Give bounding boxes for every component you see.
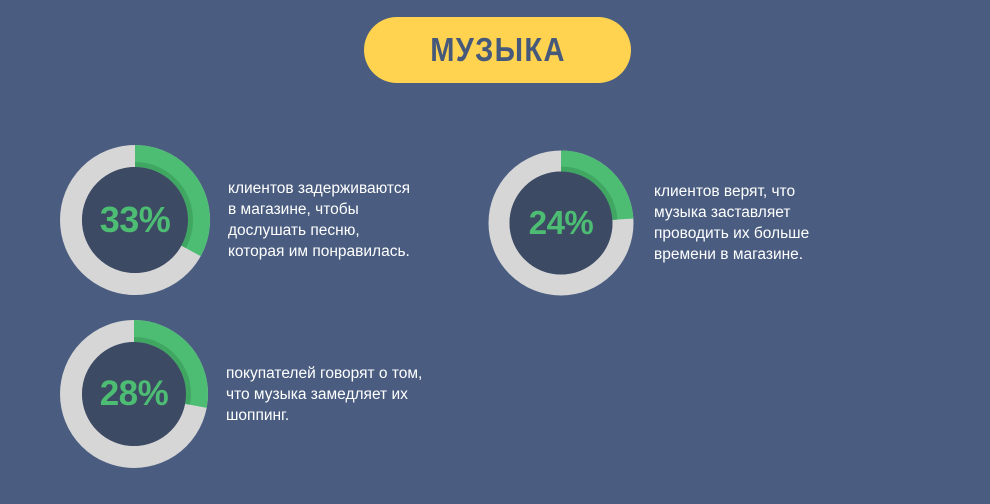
stat-block: 28% покупателей говорят о том, что музык… <box>60 320 422 468</box>
donut-svg <box>60 145 210 295</box>
page-title: МУЗЫКА <box>430 31 566 69</box>
stat-block: 24% клиентов верят, что музыка заставляе… <box>488 150 809 296</box>
page-title-pill: МУЗЫКА <box>364 17 631 83</box>
stat-caption: покупателей говорят о том, что музыка за… <box>226 363 422 426</box>
donut-center-disc <box>82 167 188 273</box>
donut-center-disc <box>510 172 613 275</box>
donut-chart-28: 28% <box>60 320 208 468</box>
donut-center-disc <box>82 342 186 446</box>
donut-svg <box>488 150 634 296</box>
donut-svg <box>60 320 208 468</box>
stat-caption: клиентов задерживаются в магазине, чтобы… <box>228 178 410 262</box>
donut-chart-24: 24% <box>488 150 634 296</box>
stat-block: 33% клиентов задерживаются в магазине, ч… <box>60 145 410 295</box>
donut-chart-33: 33% <box>60 145 210 295</box>
stat-caption: клиентов верят, что музыка заставляет пр… <box>654 181 809 265</box>
